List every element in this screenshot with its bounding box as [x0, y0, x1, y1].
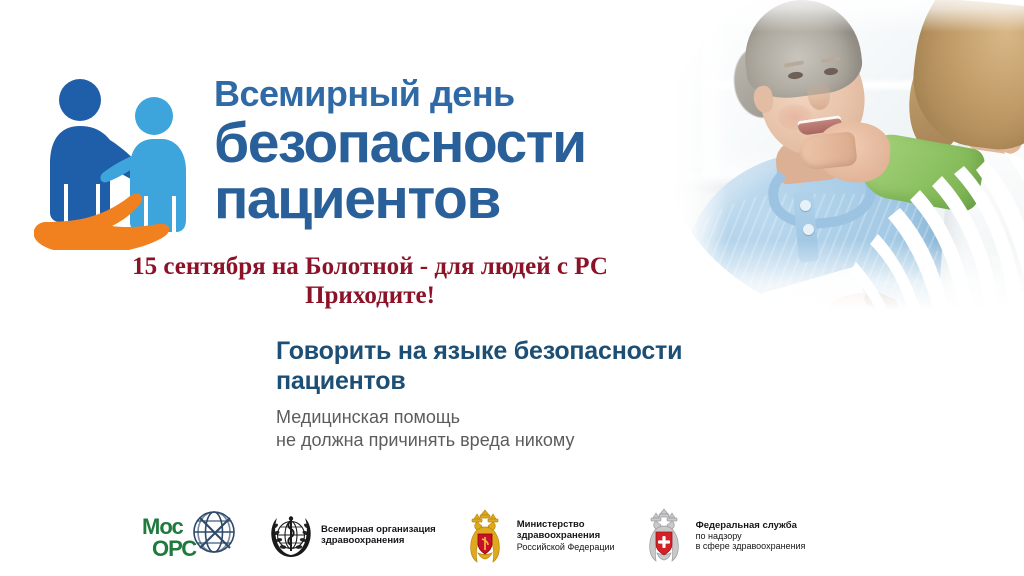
roszdravnadzor-text-line-3: в сфере здравоохранения: [696, 541, 806, 551]
minzdrav-text-line-3: Российской Федерации: [517, 542, 615, 552]
poster-headline: Всемирный день безопасности пациентов: [214, 74, 684, 227]
mosorc-logo-icon: Мос ОРС: [140, 510, 244, 562]
roszdravnadzor-red-shield: [656, 532, 672, 555]
slogan-subtitle-line-2: не должна причинять вреда никому: [276, 429, 796, 452]
patient-safety-logo-mark: [34, 72, 210, 250]
who-text-line-2: здравоохранения: [321, 536, 436, 547]
announcement-line-1: 15 сентября на Болотной - для людей с РС: [0, 252, 740, 281]
mosorc-wordmark: Мос ОРС: [142, 514, 197, 561]
campaign-slogan: Говорить на языке безопасности пациентов…: [276, 336, 796, 452]
patient-safety-day-poster: Всемирный день безопасности пациентов 15…: [0, 0, 1024, 576]
russian-eagle-gold-icon: [460, 509, 510, 563]
minzdrav-logo-text: Министерство здравоохранения Российской …: [517, 520, 615, 551]
partner-logo-strip: Мос ОРС: [140, 506, 860, 566]
roszdravnadzor-text-line-2: по надзору: [696, 531, 806, 541]
minzdrav-red-shield: [478, 534, 492, 554]
who-emblem-icon: [268, 513, 314, 559]
event-announcement: 15 сентября на Болотной - для людей с РС…: [0, 252, 740, 310]
who-logo-text: Всемирная организация здравоохранения: [321, 525, 436, 546]
slogan-heading-line-2: пациентов: [276, 366, 796, 396]
russian-eagle-silver-icon: [639, 508, 689, 564]
logo-roszdravnadzor: Федеральная служба по надзору в сфере зд…: [639, 508, 806, 564]
headline-line-2: безопасности: [214, 115, 684, 171]
globe-icon: [194, 512, 234, 552]
announcement-line-2: Приходите!: [0, 281, 740, 310]
logo-who: Всемирная организация здравоохранения: [268, 513, 436, 559]
headline-line-3: пациентов: [214, 171, 684, 227]
minzdrav-text-line-2: здравоохранения: [517, 531, 615, 542]
slogan-subtitle-line-1: Медицинская помощь: [276, 406, 796, 429]
roszdravnadzor-text-line-1: Федеральная служба: [696, 521, 806, 532]
logo-mosorc: Мос ОРС: [140, 510, 244, 562]
cardigan-button-top: [800, 200, 811, 211]
cardigan-button-bottom: [803, 224, 814, 235]
caregiver-hand-on-shoulder: [798, 131, 857, 171]
logo-minzdrav: Министерство здравоохранения Российской …: [460, 509, 615, 563]
slogan-heading-line-1: Говорить на языке безопасности: [276, 336, 796, 366]
roszdravnadzor-logo-text: Федеральная служба по надзору в сфере зд…: [696, 521, 806, 552]
svg-text:ОРС: ОРС: [152, 536, 197, 561]
headline-line-1: Всемирный день: [214, 74, 684, 114]
